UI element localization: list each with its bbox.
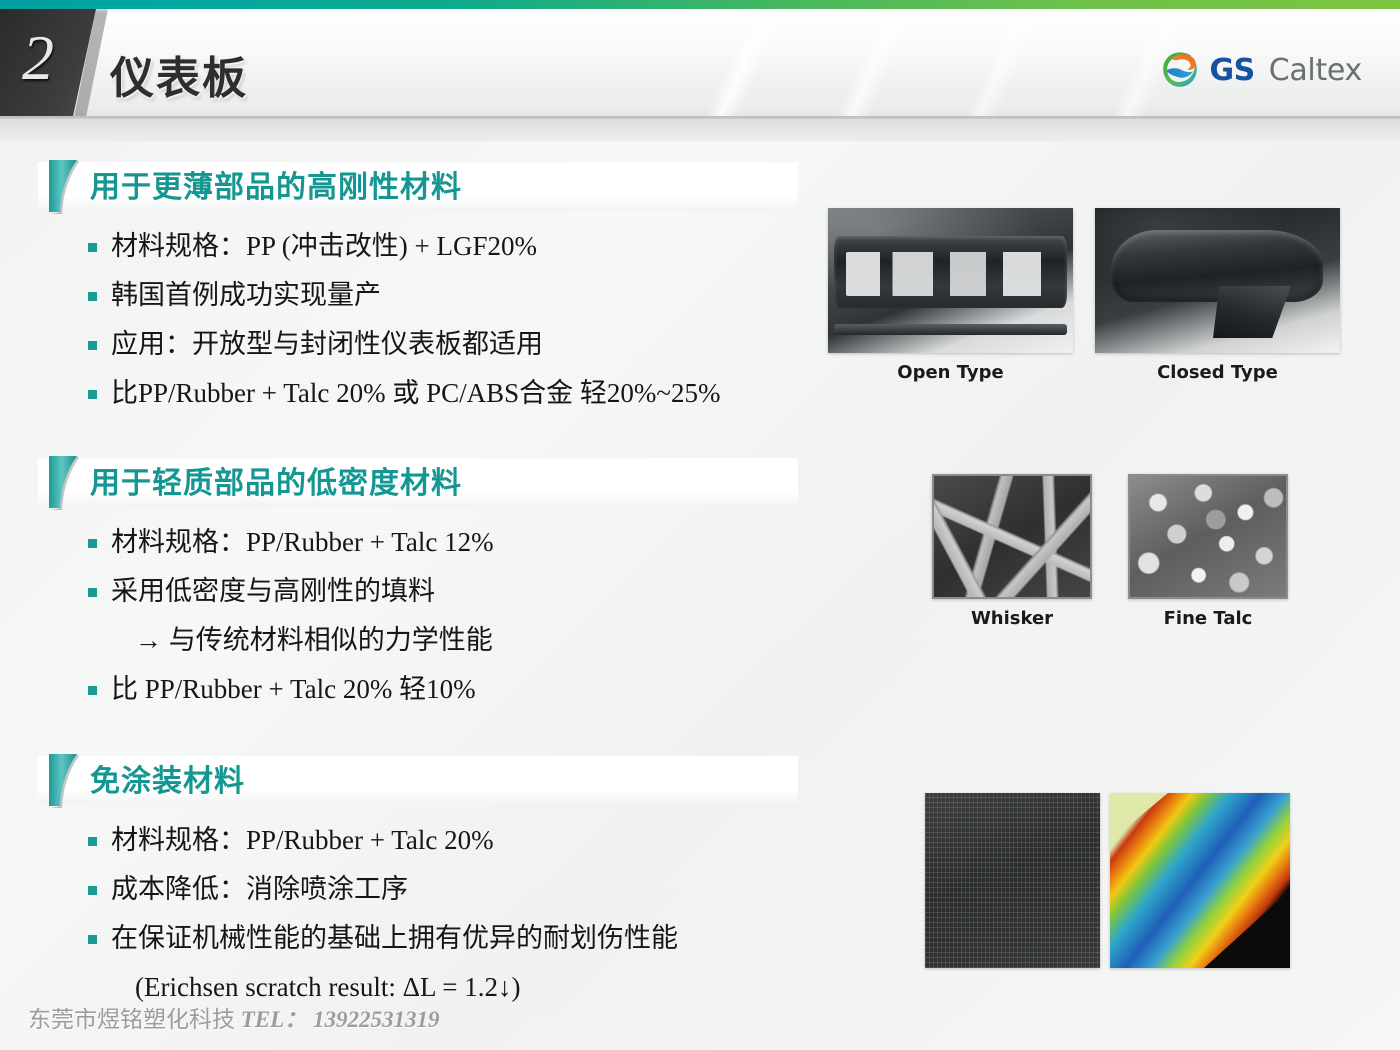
list-item: 比 PP/Rubber + Talc 20% 轻10%: [88, 669, 838, 711]
section-paint-free: 免涂装材料 材料规格：PP/Rubber + Talc 20% 成本降低：消除喷…: [38, 752, 838, 1015]
bullet-square-icon: [88, 886, 97, 895]
section1-photo-group: Open Type Closed Type: [828, 208, 1340, 383]
section-marker-icon: [47, 454, 81, 510]
section-low-density: 用于轻质部品的低密度材料 材料规格：PP/Rubber + Talc 12% 采…: [38, 454, 838, 717]
bullet-text: 材料规格：PP (冲击改性) + LGF20%: [111, 226, 537, 268]
photo-item: Closed Type: [1095, 208, 1340, 383]
gs-caltex-logo: GS Caltex: [1160, 50, 1362, 90]
mesh-surface-photo: [925, 793, 1100, 968]
section-title: 用于更薄部品的高刚性材料: [90, 162, 462, 206]
closed-type-dashboard-photo: [1095, 208, 1340, 353]
dashboard-beam: [834, 324, 1067, 335]
slide-number: 2: [22, 26, 54, 90]
list-item: 成本降低：消除喷涂工序: [88, 869, 838, 911]
photo-caption: Fine Talc: [1164, 608, 1253, 629]
open-type-dashboard-photo: [828, 208, 1073, 353]
section-marker-icon: [47, 158, 81, 214]
bullet-text: 韩国首例成功实现量产: [111, 275, 381, 317]
footer-contact: 东莞市煜铭塑化科技 TEL： 13922531319: [28, 1000, 439, 1034]
bullet-square-icon: [88, 686, 97, 695]
list-item: 在保证机械性能的基础上拥有优异的耐划伤性能: [88, 918, 838, 960]
section-header: 用于轻质部品的低密度材料: [38, 454, 838, 510]
top-accent-bar: [0, 0, 1400, 9]
photo-item: Fine Talc: [1128, 474, 1288, 629]
sub-note-arrow-line: → 与传统材料相似的力学性能: [135, 620, 838, 662]
footer-tel-label: TEL：: [241, 1007, 307, 1032]
bullet-square-icon: [88, 837, 97, 846]
photo-item: Whisker: [932, 474, 1092, 629]
photo-item: [925, 793, 1100, 968]
footer-tel-number: 13922531319: [313, 1007, 440, 1032]
list-item: 采用低密度与高刚性的填料: [88, 571, 838, 613]
list-item: 比PP/Rubber + Talc 20% 或 PC/ABS合金 轻20%~25…: [88, 373, 838, 415]
list-item: 材料规格：PP/Rubber + Talc 20%: [88, 820, 838, 862]
section3-photo-group: [925, 793, 1290, 968]
section-header: 用于更薄部品的高刚性材料: [38, 158, 838, 214]
bullet-text: 比 PP/Rubber + Talc 20% 轻10%: [111, 669, 476, 711]
whisker-micrograph-photo: [932, 474, 1092, 599]
page-title: 仪表板: [110, 42, 248, 106]
section-bullet-list: 材料规格：PP/Rubber + Talc 12% 采用低密度与高刚性的填料 →…: [88, 522, 838, 710]
bullet-square-icon: [88, 341, 97, 350]
list-item: 材料规格：PP/Rubber + Talc 12%: [88, 522, 838, 564]
fine-talc-micrograph-photo: [1128, 474, 1288, 599]
header-under-band: [0, 119, 1400, 141]
bullet-square-icon: [88, 935, 97, 944]
photo-item: Open Type: [828, 208, 1073, 383]
bullet-square-icon: [88, 539, 97, 548]
section-bullet-list: 材料规格：PP/Rubber + Talc 20% 成本降低：消除喷涂工序 在保…: [88, 820, 838, 1008]
section-bullet-list: 材料规格：PP (冲击改性) + LGF20% 韩国首例成功实现量产 应用：开放…: [88, 226, 838, 414]
photo-caption: Closed Type: [1157, 362, 1278, 383]
list-item: 材料规格：PP (冲击改性) + LGF20%: [88, 226, 838, 268]
section-marker-icon: [47, 752, 81, 808]
footer-company: 东莞市煜铭塑化科技: [28, 1007, 235, 1032]
bullet-text: 材料规格：PP/Rubber + Talc 12%: [111, 522, 494, 564]
logo-text-caltex: Caltex: [1269, 53, 1362, 88]
bullet-square-icon: [88, 390, 97, 399]
photo-caption: Whisker: [971, 608, 1053, 629]
slide-root: 2 仪表板 GS Caltex: [0, 0, 1400, 1050]
photo-item: [1110, 793, 1290, 968]
photo-caption: Open Type: [897, 362, 1003, 383]
section-title: 用于轻质部品的低密度材料: [90, 458, 462, 502]
list-item: 韩国首例成功实现量产: [88, 275, 838, 317]
bullet-square-icon: [88, 243, 97, 252]
scratch-heatmap-photo: [1110, 793, 1290, 968]
bullet-text: 材料规格：PP/Rubber + Talc 20%: [111, 820, 494, 862]
logo-text-gs: GS: [1209, 53, 1254, 88]
section-high-rigidity: 用于更薄部品的高刚性材料 材料规格：PP (冲击改性) + LGF20% 韩国首…: [38, 158, 838, 421]
bullet-text: 采用低密度与高刚性的填料: [111, 571, 435, 613]
bullet-square-icon: [88, 588, 97, 597]
list-item: 应用：开放型与封闭性仪表板都适用: [88, 324, 838, 366]
gs-caltex-swirl-icon: [1160, 50, 1200, 90]
bullet-square-icon: [88, 292, 97, 301]
bullet-text: 在保证机械性能的基础上拥有优异的耐划伤性能: [111, 918, 678, 960]
section2-photo-group: Whisker Fine Talc: [932, 474, 1288, 629]
section-header: 免涂装材料: [38, 752, 838, 808]
bullet-text: 成本降低：消除喷涂工序: [111, 869, 408, 911]
bullet-text: 应用：开放型与封闭性仪表板都适用: [111, 324, 543, 366]
bullet-text: 比PP/Rubber + Talc 20% 或 PC/ABS合金 轻20%~25…: [111, 373, 720, 415]
section-title: 免涂装材料: [90, 756, 245, 800]
